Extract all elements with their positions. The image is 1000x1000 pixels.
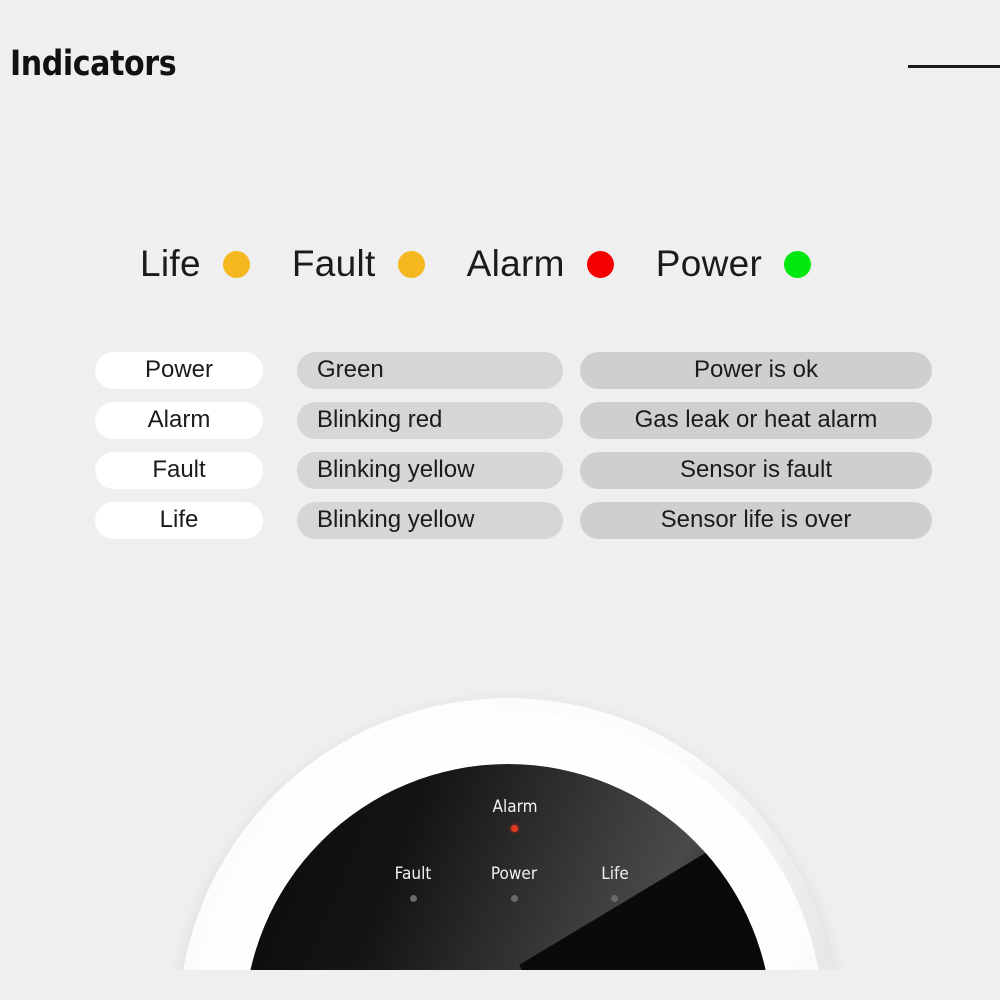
life-indicator-dot bbox=[223, 251, 250, 278]
page-title: Indicators bbox=[10, 44, 176, 84]
row-description-text: Sensor life is over bbox=[661, 508, 852, 534]
row-name-cell: Alarm bbox=[95, 402, 263, 439]
header-divider-line bbox=[908, 65, 1000, 68]
row-color-text: Blinking yellow bbox=[317, 458, 474, 484]
row-color-cell: Blinking red bbox=[297, 402, 563, 439]
legend-item-life: Life bbox=[140, 243, 292, 285]
row-description-text: Power is ok bbox=[694, 358, 818, 384]
table-row: Fault Blinking yellow Sensor is fault bbox=[95, 452, 935, 489]
row-name-cell: Power bbox=[95, 352, 263, 389]
row-name-text: Power bbox=[145, 358, 213, 384]
row-description-cell: Power is ok bbox=[580, 352, 932, 389]
row-name-text: Alarm bbox=[148, 408, 211, 434]
device-bezel-inner-ring bbox=[192, 712, 824, 970]
row-color-cell: Blinking yellow bbox=[297, 502, 563, 539]
row-color-text: Blinking red bbox=[317, 408, 442, 434]
indicators-page: Indicators Life Fault Alarm Power Power … bbox=[0, 0, 1000, 1000]
row-description-text: Sensor is fault bbox=[680, 458, 832, 484]
legend-label-life: Life bbox=[140, 243, 201, 285]
device-glass-face bbox=[244, 764, 772, 970]
row-description-text: Gas leak or heat alarm bbox=[635, 408, 878, 434]
device-photo: Alarm Fault Power Life bbox=[0, 690, 1000, 1000]
row-color-text: Green bbox=[317, 358, 384, 384]
row-color-text: Blinking yellow bbox=[317, 508, 474, 534]
row-name-cell: Life bbox=[95, 502, 263, 539]
row-name-text: Life bbox=[160, 508, 199, 534]
legend-item-alarm: Alarm bbox=[467, 243, 656, 285]
legend-label-fault: Fault bbox=[292, 243, 376, 285]
row-color-cell: Green bbox=[297, 352, 563, 389]
row-name-text: Fault bbox=[152, 458, 205, 484]
legend-label-power: Power bbox=[656, 243, 762, 285]
device-bezel-ring bbox=[178, 698, 838, 970]
row-name-cell: Fault bbox=[95, 452, 263, 489]
row-description-cell: Sensor life is over bbox=[580, 502, 932, 539]
row-description-cell: Sensor is fault bbox=[580, 452, 932, 489]
table-row: Alarm Blinking red Gas leak or heat alar… bbox=[95, 402, 935, 439]
indicator-legend: Life Fault Alarm Power bbox=[140, 236, 811, 292]
alarm-indicator-dot bbox=[587, 251, 614, 278]
row-description-cell: Gas leak or heat alarm bbox=[580, 402, 932, 439]
legend-item-power: Power bbox=[656, 243, 811, 285]
fault-indicator-dot bbox=[398, 251, 425, 278]
photo-bottom-crop bbox=[0, 970, 1000, 1000]
device-clip: Alarm Fault Power Life bbox=[0, 690, 1000, 970]
indicator-table: Power Green Power is ok Alarm Blinking r… bbox=[95, 352, 935, 552]
table-row: Life Blinking yellow Sensor life is over bbox=[95, 502, 935, 539]
power-indicator-dot bbox=[784, 251, 811, 278]
legend-item-fault: Fault bbox=[292, 243, 467, 285]
row-color-cell: Blinking yellow bbox=[297, 452, 563, 489]
table-row: Power Green Power is ok bbox=[95, 352, 935, 389]
legend-label-alarm: Alarm bbox=[467, 243, 565, 285]
